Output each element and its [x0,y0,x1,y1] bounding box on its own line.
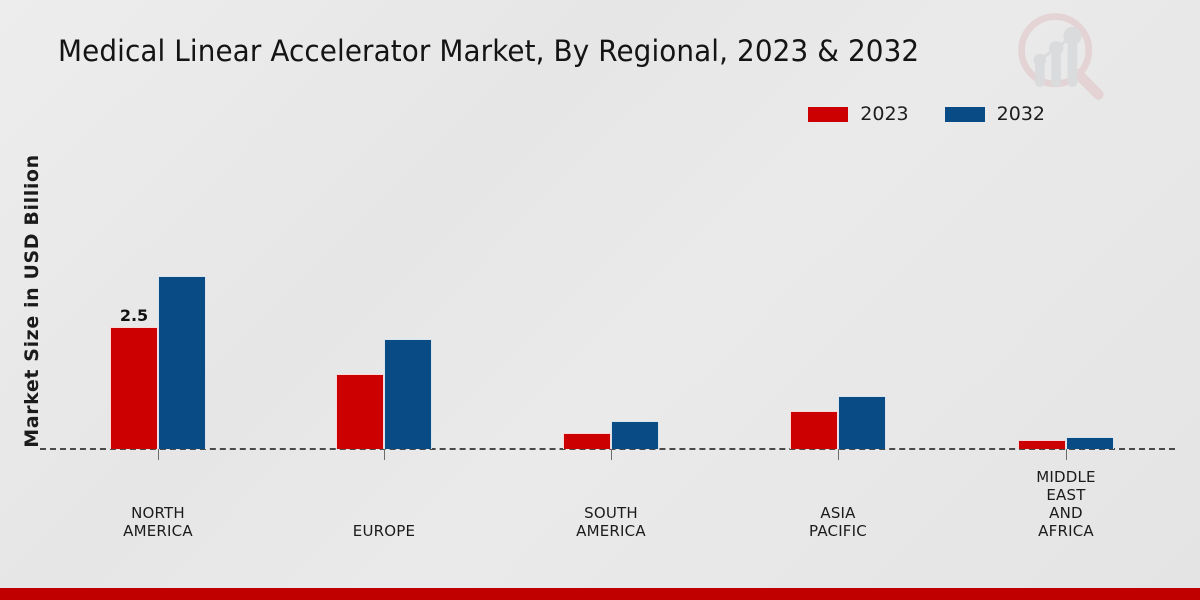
x-label-south-america: SOUTH AMERICA [512,504,710,540]
x-tick-europe [384,449,385,460]
chart-canvas: Medical Linear Accelerator Market, By Re… [0,0,1200,600]
bar-middle-east-and-africa-2023[interactable] [1018,440,1066,449]
x-label-north-america: NORTH AMERICA [59,504,257,540]
bar-europe-2032[interactable] [384,339,432,449]
bar-asia-pacific-2023[interactable] [790,411,838,449]
x-tick-asia-pacific [838,449,839,460]
x-label-asia-pacific: ASIA PACIFIC [739,504,937,540]
x-tick-south-america [611,449,612,460]
x-label-line: NORTH [59,504,257,522]
x-tick-north-america [158,449,159,460]
bars-europe [336,339,432,449]
x-label-line: EUROPE [285,522,483,540]
bar-north-america-2023[interactable] [110,327,158,449]
value-label-north-america-2023: 2.5 [110,306,158,325]
bar-middle-east-and-africa-2032[interactable] [1066,437,1114,449]
bar-asia-pacific-2032[interactable] [838,396,886,449]
x-label-line: AMERICA [512,522,710,540]
x-label-line: EAST [967,486,1165,504]
plot-area: 2.5 NORTH AMERICA EUROPE [0,0,1200,600]
x-label-line: MIDDLE [967,468,1165,486]
bars-north-america [110,276,206,449]
x-label-line: PACIFIC [739,522,937,540]
x-label-line: SOUTH [512,504,710,522]
bars-middle-east-and-africa [1018,437,1114,449]
bar-south-america-2032[interactable] [611,421,659,449]
x-label-line: AFRICA [967,522,1165,540]
bar-north-america-2032[interactable] [158,276,206,449]
x-label-line: ASIA [739,504,937,522]
bottom-accent-strip [0,588,1200,600]
x-label-line: AND [967,504,1165,522]
bar-south-america-2023[interactable] [563,433,611,449]
x-label-europe: EUROPE [285,522,483,540]
x-label-middle-east-and-africa: MIDDLE EAST AND AFRICA [967,468,1165,540]
bars-south-america [563,421,659,449]
bars-asia-pacific [790,396,886,449]
bar-europe-2023[interactable] [336,374,384,449]
x-tick-middle-east-and-africa [1066,449,1067,460]
x-label-line: AMERICA [59,522,257,540]
